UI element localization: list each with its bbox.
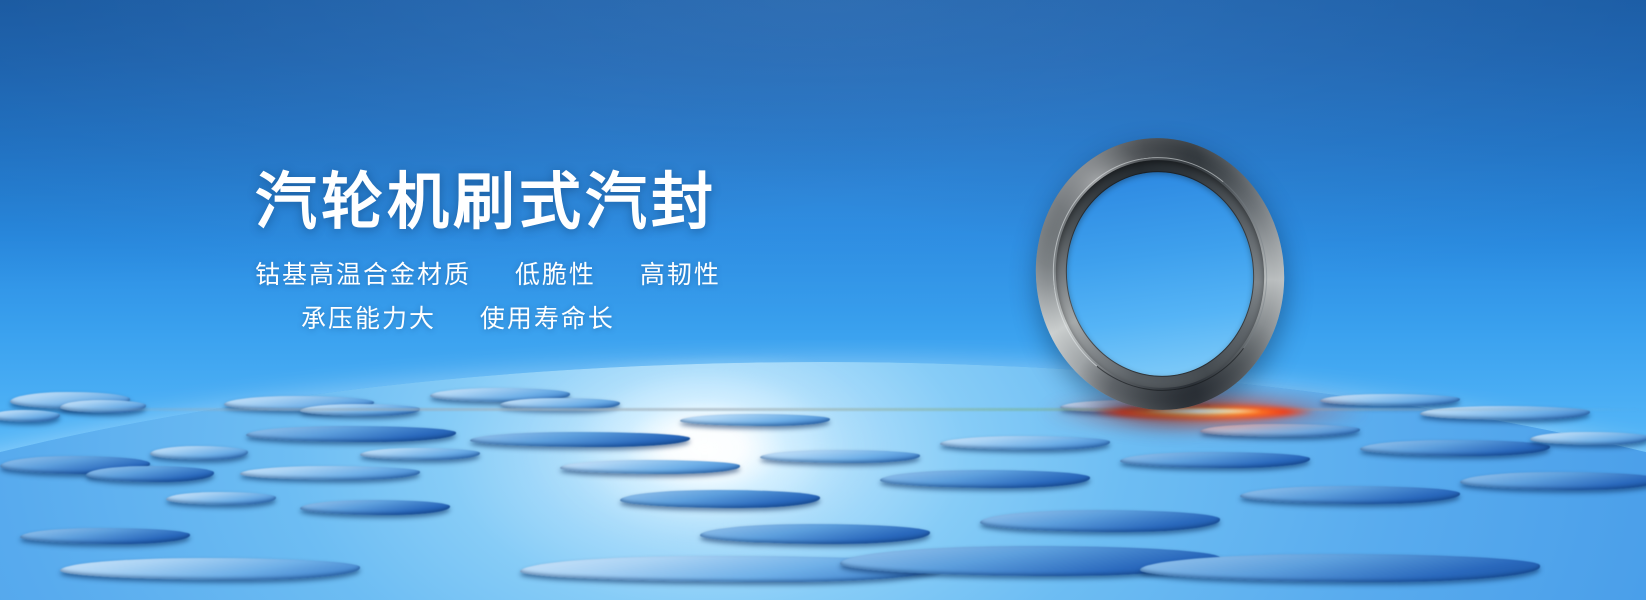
feature-high-toughness: 高韧性 [640, 261, 721, 289]
globe-scene [0, 340, 1646, 600]
feature-low-brittleness: 低脆性 [515, 261, 596, 289]
banner-features-line-2: 承压能力大 使用寿命长 [255, 301, 721, 337]
banner-copy: 汽轮机刷式汽封 钴基高温合金材质 低脆性 高韧性 承压能力大 使用寿命长 [255, 170, 721, 338]
banner-features-line-1: 钴基高温合金材质 低脆性 高韧性 [255, 257, 721, 293]
hero-banner: 汽轮机刷式汽封 钴基高温合金材质 低脆性 高韧性 承压能力大 使用寿命长 [0, 0, 1646, 600]
feature-material: 钴基高温合金材质 [255, 261, 471, 289]
product-ring-image [1020, 124, 1299, 424]
feature-pressure-capacity: 承压能力大 [301, 305, 436, 333]
banner-headline: 汽轮机刷式汽封 [255, 170, 721, 235]
feature-long-life: 使用寿命长 [480, 305, 615, 333]
globe-sphere [0, 362, 1646, 600]
